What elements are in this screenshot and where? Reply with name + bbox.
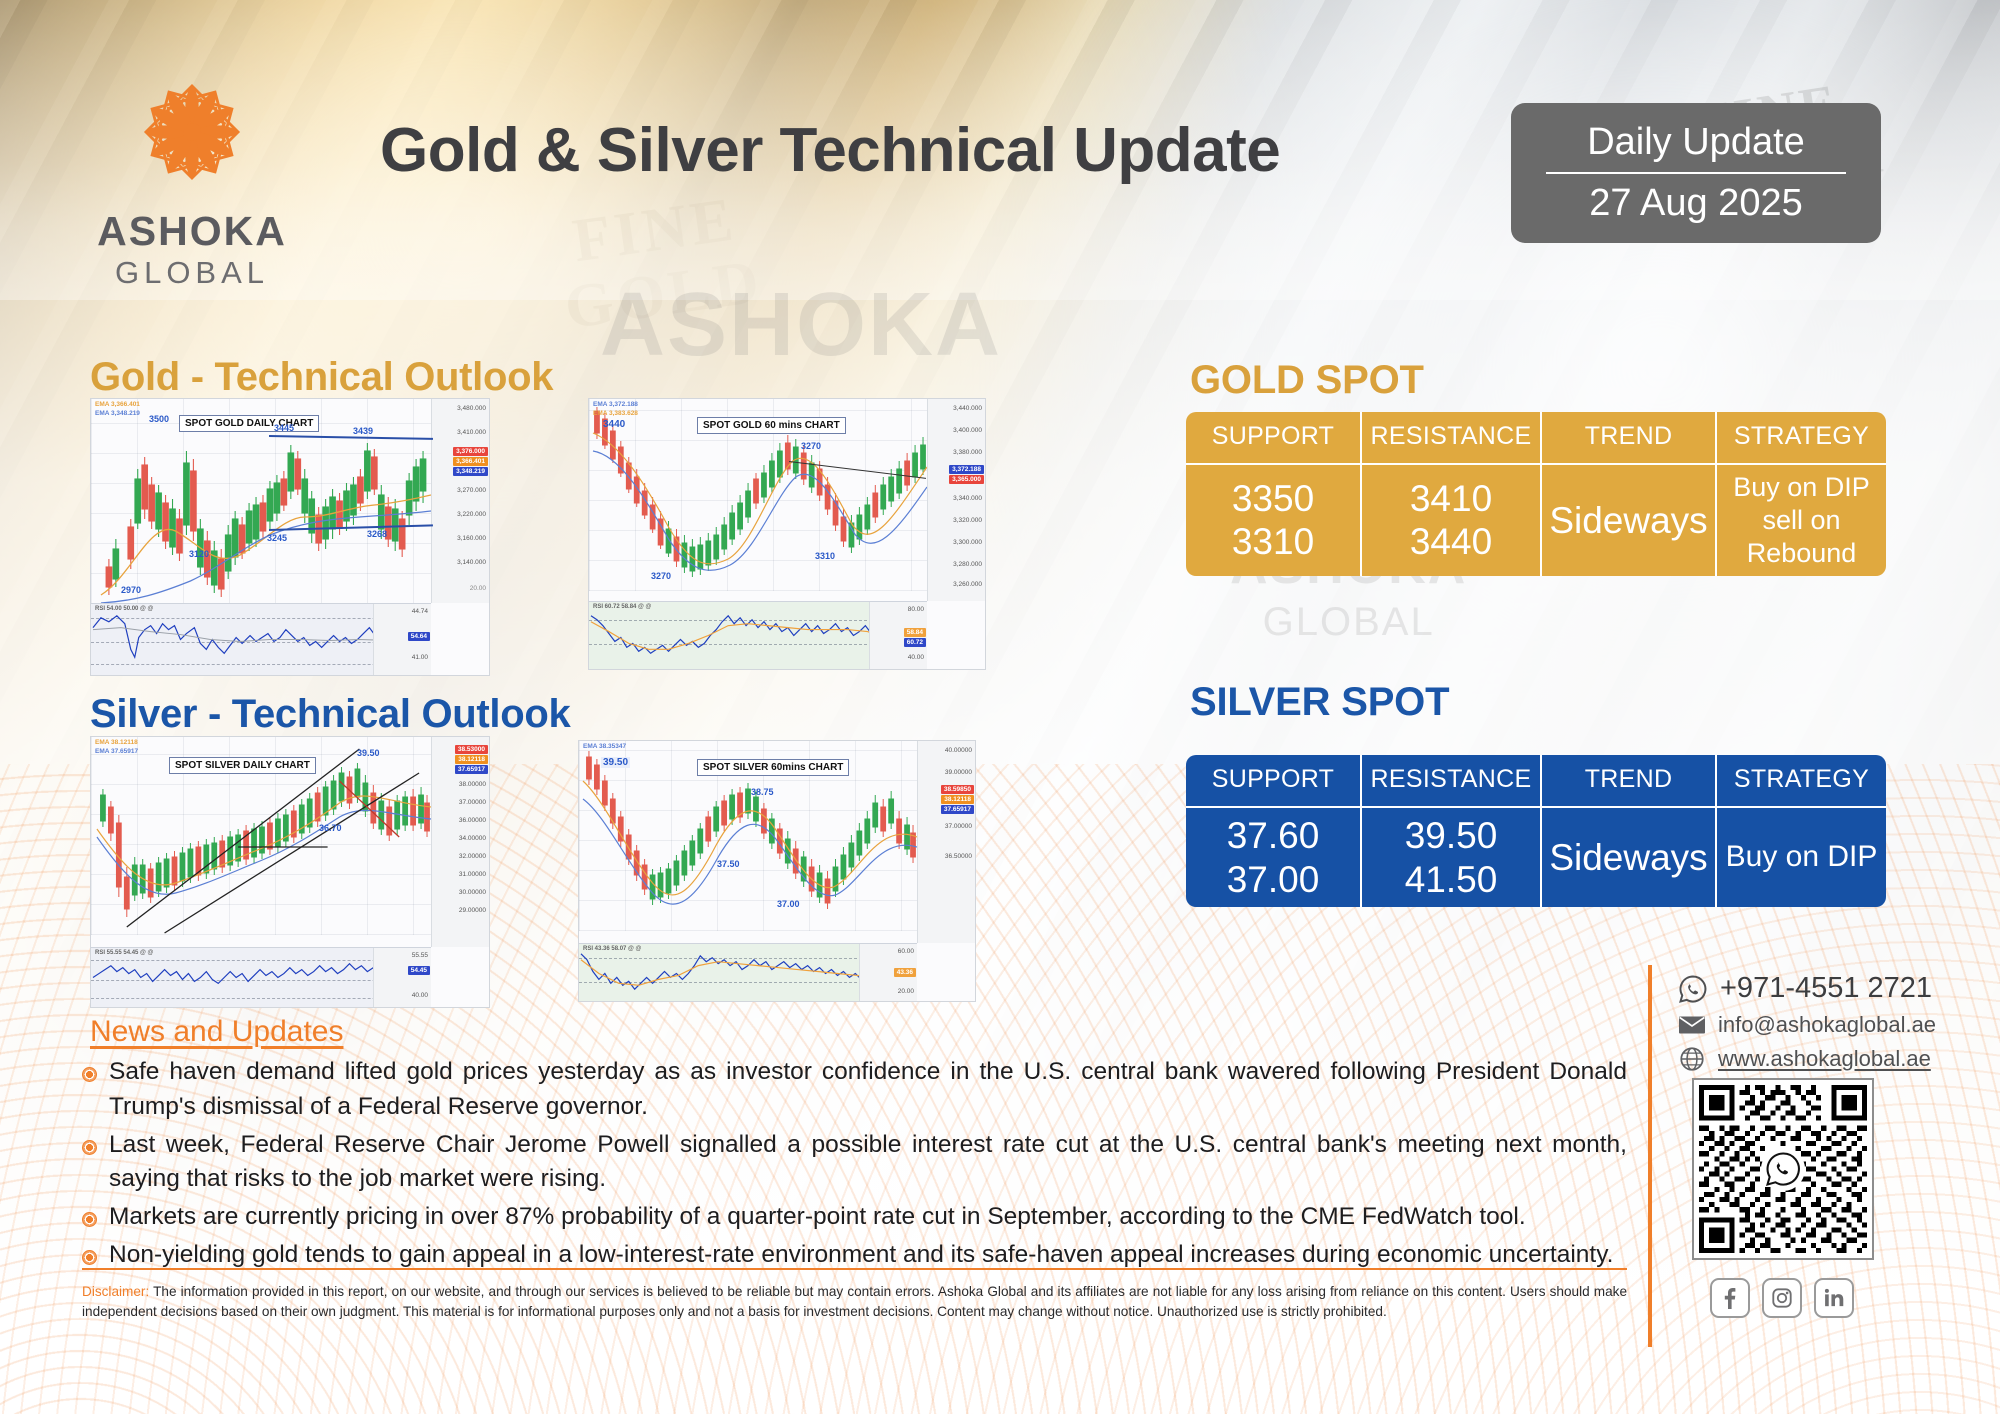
- axis-label: 3,160.000: [457, 535, 486, 542]
- axis-label: 3,270.000: [457, 487, 486, 494]
- gold-support-values: 3350 3310: [1186, 464, 1361, 576]
- chart-silver-daily[interactable]: EMA 38.12118 EMA 37.65917 SPOT SILVER DA…: [90, 736, 490, 1008]
- axis-label: 36.50000: [945, 853, 972, 860]
- gold-daily-level-3268: 3268: [367, 529, 387, 539]
- gold-resistance-values: 3410 3440: [1361, 464, 1541, 576]
- axis-label: 36.00000: [459, 817, 486, 824]
- axis-label: 32.00000: [459, 853, 486, 860]
- brand-name: ASHOKA: [92, 208, 292, 255]
- gold-daily-rsi-axis: 44.74 54.64 41.00: [373, 604, 431, 675]
- gold-60m-ema-bottom: EMA 3,383.628: [593, 410, 638, 417]
- axis-label: 3,320.000: [953, 517, 982, 524]
- silver-support-2: 37.00: [1190, 858, 1356, 902]
- rsi-value: 20.00: [898, 988, 914, 995]
- gold-60m-ema-top: EMA 3,372.188: [593, 401, 638, 408]
- table-row: 37.60 37.00 39.50 41.50 Sideways Buy on …: [1186, 807, 1886, 907]
- facebook-glyph-icon: [1720, 1287, 1740, 1309]
- envelope-icon: [1678, 1014, 1706, 1036]
- axis-label: 34.00000: [459, 835, 486, 842]
- list-item: Safe haven demand lifted gold prices yes…: [82, 1055, 1627, 1125]
- silver-outlook-heading: Silver - Technical Outlook: [90, 692, 570, 737]
- axis-tag-ema2: 37.65917: [455, 765, 488, 774]
- gold-daily-level-3120: 3120: [189, 549, 209, 559]
- disclaimer-label: Disclaimer:: [82, 1284, 149, 1299]
- axis-label: 3,140.000: [457, 559, 486, 566]
- contact-phone: +971-4551 2721: [1720, 972, 1932, 1005]
- axis-label: 38.00000: [459, 781, 486, 788]
- chart-gold-60m[interactable]: EMA 3,372.188 EMA 3,383.628 SPOT GOLD 60…: [588, 398, 986, 670]
- news-item-text: Safe haven demand lifted gold prices yes…: [109, 1055, 1627, 1125]
- axis-label: 39.00000: [945, 769, 972, 776]
- silver-60m-ema-top: EMA 38.35347: [583, 743, 626, 750]
- gold-header-strategy: STRATEGY: [1716, 412, 1886, 464]
- axis-label: 37.00000: [459, 799, 486, 806]
- axis-label: 3,260.000: [953, 581, 982, 588]
- news-item-text: Last week, Federal Reserve Chair Jerome …: [109, 1128, 1627, 1198]
- rsi-value: 58.84: [904, 628, 926, 637]
- silver-spot-heading: SILVER SPOT: [1190, 680, 1449, 725]
- silver-60m-rsi-axis: 60.00 43.36 20.00: [859, 944, 917, 1001]
- gold-daily-level-3500: 3500: [149, 414, 169, 424]
- news-heading: News and Updates: [90, 1015, 343, 1049]
- gold-60m-level-3310: 3310: [815, 551, 835, 561]
- contact-email-row[interactable]: info@ashokaglobal.ae: [1678, 1012, 1968, 1038]
- rsi-value: 44.74: [412, 608, 428, 615]
- gold-resistance-2: 3440: [1366, 520, 1536, 564]
- silver-60m-level-3875: 38.75: [751, 787, 774, 797]
- contact-website: www.ashokaglobal.ae: [1718, 1046, 1931, 1072]
- axis-label: 3,410.000: [457, 429, 486, 436]
- facebook-icon[interactable]: [1710, 1278, 1750, 1318]
- table-row: 3350 3310 3410 3440 Sideways Buy on DIP …: [1186, 464, 1886, 576]
- brand-logo: ASHOKA GLOBAL: [92, 58, 292, 291]
- disclaimer-text: The information provided in this report,…: [82, 1284, 1627, 1319]
- contact-website-row[interactable]: www.ashokaglobal.ae: [1678, 1045, 1968, 1073]
- list-item: Markets are currently pricing in over 87…: [82, 1200, 1627, 1235]
- instagram-glyph-icon: [1771, 1287, 1793, 1309]
- contact-phone-row[interactable]: +971-4551 2721: [1678, 972, 1968, 1005]
- axis-label: 3,480.000: [457, 405, 486, 412]
- list-item: Last week, Federal Reserve Chair Jerome …: [82, 1128, 1627, 1198]
- axis-tag-ema1: 38.12118: [455, 755, 488, 764]
- silver-strategy-value: Buy on DIP: [1716, 807, 1886, 907]
- whatsapp-icon: [1678, 974, 1708, 1004]
- axis-tag-ema1: 3,366.401: [453, 457, 488, 466]
- brand-subtitle: GLOBAL: [92, 255, 292, 291]
- badge-update-label: Daily Update: [1511, 121, 1881, 172]
- silver-resistance-values: 39.50 41.50: [1361, 807, 1541, 907]
- qr-code[interactable]: [1692, 1078, 1874, 1260]
- rsi-value: 54.64: [408, 632, 430, 641]
- rsi-value: 54.45: [408, 966, 430, 975]
- gold-spot-table: SUPPORT RESISTANCE TREND STRATEGY 3350 3…: [1186, 412, 1886, 576]
- gold-daily-level-3245: 3245: [267, 533, 287, 543]
- disclaimer-divider: [82, 1268, 1627, 1270]
- silver-60m-level-3950: 39.50: [601, 757, 630, 768]
- silver-60m-rsi-pane: RSI 43.36 58.07 @ @ 60.00 43.36 20.00: [579, 943, 917, 1001]
- gold-60m-level-3440: 3440: [603, 419, 625, 430]
- gold-daily-price-axis: 3,480.000 3,410.000 3,376.000 3,366.401 …: [431, 399, 489, 603]
- bullet-icon: [82, 1140, 97, 1155]
- axis-label: 3,220.000: [457, 511, 486, 518]
- silver-daily-level-3950: 39.50: [357, 748, 380, 758]
- gold-header-trend: TREND: [1541, 412, 1716, 464]
- silver-header-resistance: RESISTANCE: [1361, 755, 1541, 807]
- gold-support-2: 3310: [1190, 520, 1356, 564]
- axis-tag-ema2: 37.65917: [941, 805, 974, 814]
- gold-daily-chart-title: SPOT GOLD DAILY CHART: [179, 415, 319, 432]
- instagram-icon[interactable]: [1762, 1278, 1802, 1318]
- rsi-value: 55.55: [412, 952, 428, 959]
- silver-support-values: 37.60 37.00: [1186, 807, 1361, 907]
- news-item-text: Markets are currently pricing in over 87…: [109, 1200, 1526, 1235]
- axis-label: 3,340.000: [953, 495, 982, 502]
- silver-daily-rsi-axis: 54.45 55.55 40.00: [373, 948, 431, 1007]
- rsi-value: 60.72: [904, 638, 926, 647]
- gold-daily-ema-top: EMA 3,366.401: [95, 401, 140, 408]
- axis-tag-price: 38.53000: [455, 745, 488, 754]
- gold-60m-price-axis: 3,440.000 3,400.000 3,380.000 3,372.188 …: [927, 399, 985, 601]
- silver-resistance-2: 41.50: [1366, 858, 1536, 902]
- axis-label: 3,300.000: [953, 539, 982, 546]
- axis-label: 40.00000: [945, 747, 972, 754]
- silver-header-strategy: STRATEGY: [1716, 755, 1886, 807]
- contact-email: info@ashokaglobal.ae: [1718, 1012, 1936, 1038]
- silver-spot-table: SUPPORT RESISTANCE TREND STRATEGY 37.60 …: [1186, 755, 1886, 907]
- silver-support-1: 37.60: [1190, 814, 1356, 858]
- silver-60m-price-axis: 40.00000 39.00000 38.59850 38.12118 37.6…: [917, 741, 975, 943]
- linkedin-glyph-icon: [1823, 1288, 1845, 1308]
- rsi-value: 40.00: [908, 654, 924, 661]
- axis-label: 31.00000: [459, 871, 486, 878]
- silver-60m-level-3750: 37.50: [717, 859, 740, 869]
- axis-label: 3,400.000: [953, 427, 982, 434]
- gold-daily-level-3439: 3439: [353, 426, 373, 436]
- silver-resistance-1: 39.50: [1366, 814, 1536, 858]
- gold-60m-rsi-axis: 80.00 58.84 60.72 40.00: [869, 602, 927, 669]
- silver-daily-rsi-pane: RSI 55.55 54.45 @ @ 54.45 55.55 40.00: [91, 947, 431, 1007]
- gold-spot-heading: GOLD SPOT: [1190, 358, 1424, 403]
- gold-support-1: 3350: [1190, 477, 1356, 521]
- disclaimer-block: Disclaimer: The information provided in …: [82, 1282, 1627, 1321]
- gold-outlook-heading: Gold - Technical Outlook: [90, 355, 553, 400]
- silver-daily-level-3670: 36.70: [319, 823, 342, 833]
- gold-60m-rsi-pane: RSI 60.72 58.84 @ @ 80.00 58.84 60.72 40…: [589, 601, 927, 669]
- rsi-value: 60.00: [898, 948, 914, 955]
- silver-daily-ema-bottom: EMA 37.65917: [95, 748, 138, 755]
- gold-trend-value: Sideways: [1541, 464, 1716, 576]
- axis-label: 30.00000: [459, 889, 486, 896]
- page-title: Gold & Silver Technical Update: [380, 115, 1440, 186]
- silver-60m-level-3700: 37.00: [777, 899, 800, 909]
- axis-tag-ema2: 3,348.219: [453, 467, 488, 476]
- silver-trend-value: Sideways: [1541, 807, 1716, 907]
- globe-icon: [1678, 1045, 1706, 1073]
- rsi-value: 40.00: [412, 992, 428, 999]
- gold-60m-level-3270-bottom: 3270: [651, 571, 671, 581]
- axis-tag-price: 3,376.000: [453, 447, 488, 456]
- rsi-value: 41.00: [412, 654, 428, 661]
- bullet-icon: [82, 1067, 97, 1082]
- silver-daily-price-axis: 38.53000 38.12118 37.65917 38.00000 37.0…: [431, 737, 489, 947]
- gold-resistance-1: 3410: [1366, 477, 1536, 521]
- axis-label: 37.00000: [945, 823, 972, 830]
- contact-divider: [1648, 965, 1652, 1347]
- axis-label: 3,380.000: [953, 449, 982, 456]
- gold-daily-level-2970: 2970: [121, 585, 141, 595]
- silver-daily-chart-title: SPOT SILVER DAILY CHART: [169, 757, 316, 774]
- contact-block: +971-4551 2721 info@ashokaglobal.ae www.…: [1678, 972, 1968, 1080]
- gold-header-support: SUPPORT: [1186, 412, 1361, 464]
- axis-tag-price: 38.59850: [941, 785, 974, 794]
- chart-silver-60m[interactable]: EMA 38.35347 SPOT SILVER 60mins CHART 39…: [578, 740, 976, 1002]
- table-header-row: SUPPORT RESISTANCE TREND STRATEGY: [1186, 412, 1886, 464]
- gold-daily-rsi-pane: RSI 54.00 50.00 @ @ 44.74 54.64 41.00: [91, 603, 431, 675]
- gold-daily-ema-bottom: EMA 3,348.219: [95, 410, 140, 417]
- news-list: Safe haven demand lifted gold prices yes…: [82, 1055, 1627, 1276]
- mandala-flower-icon: [118, 58, 266, 206]
- silver-daily-ema-top: EMA 38.12118: [95, 739, 138, 746]
- axis-label: 3,280.000: [953, 561, 982, 568]
- whatsapp-icon: [1764, 1150, 1802, 1188]
- silver-header-support: SUPPORT: [1186, 755, 1361, 807]
- axis-label: 29.00000: [459, 907, 486, 914]
- axis-tag-ema1: 38.12118: [941, 795, 974, 804]
- bullet-icon: [82, 1212, 97, 1227]
- bullet-icon: [82, 1250, 97, 1265]
- silver-60m-chart-title: SPOT SILVER 60mins CHART: [697, 759, 849, 776]
- social-links: [1710, 1278, 1854, 1318]
- gold-60m-level-3270-top: 3270: [801, 441, 821, 451]
- badge-date: 27 Aug 2025: [1511, 174, 1881, 225]
- axis-label: 3,440.000: [953, 405, 982, 412]
- gold-header-resistance: RESISTANCE: [1361, 412, 1541, 464]
- qr-whatsapp-center: [1761, 1147, 1805, 1191]
- date-badge: Daily Update 27 Aug 2025: [1511, 103, 1881, 243]
- rsi-value: 43.36: [894, 968, 916, 977]
- chart-gold-daily[interactable]: EMA 3,366.401 EMA 3,348.219 SPOT GOLD DA…: [90, 398, 490, 676]
- gold-strategy-value: Buy on DIP sell on Rebound: [1716, 464, 1886, 576]
- linkedin-icon[interactable]: [1814, 1278, 1854, 1318]
- gold-daily-level-3445: 3445: [274, 423, 294, 433]
- silver-header-trend: TREND: [1541, 755, 1716, 807]
- table-header-row: SUPPORT RESISTANCE TREND STRATEGY: [1186, 755, 1886, 807]
- gold-60m-chart-title: SPOT GOLD 60 mins CHART: [697, 417, 846, 434]
